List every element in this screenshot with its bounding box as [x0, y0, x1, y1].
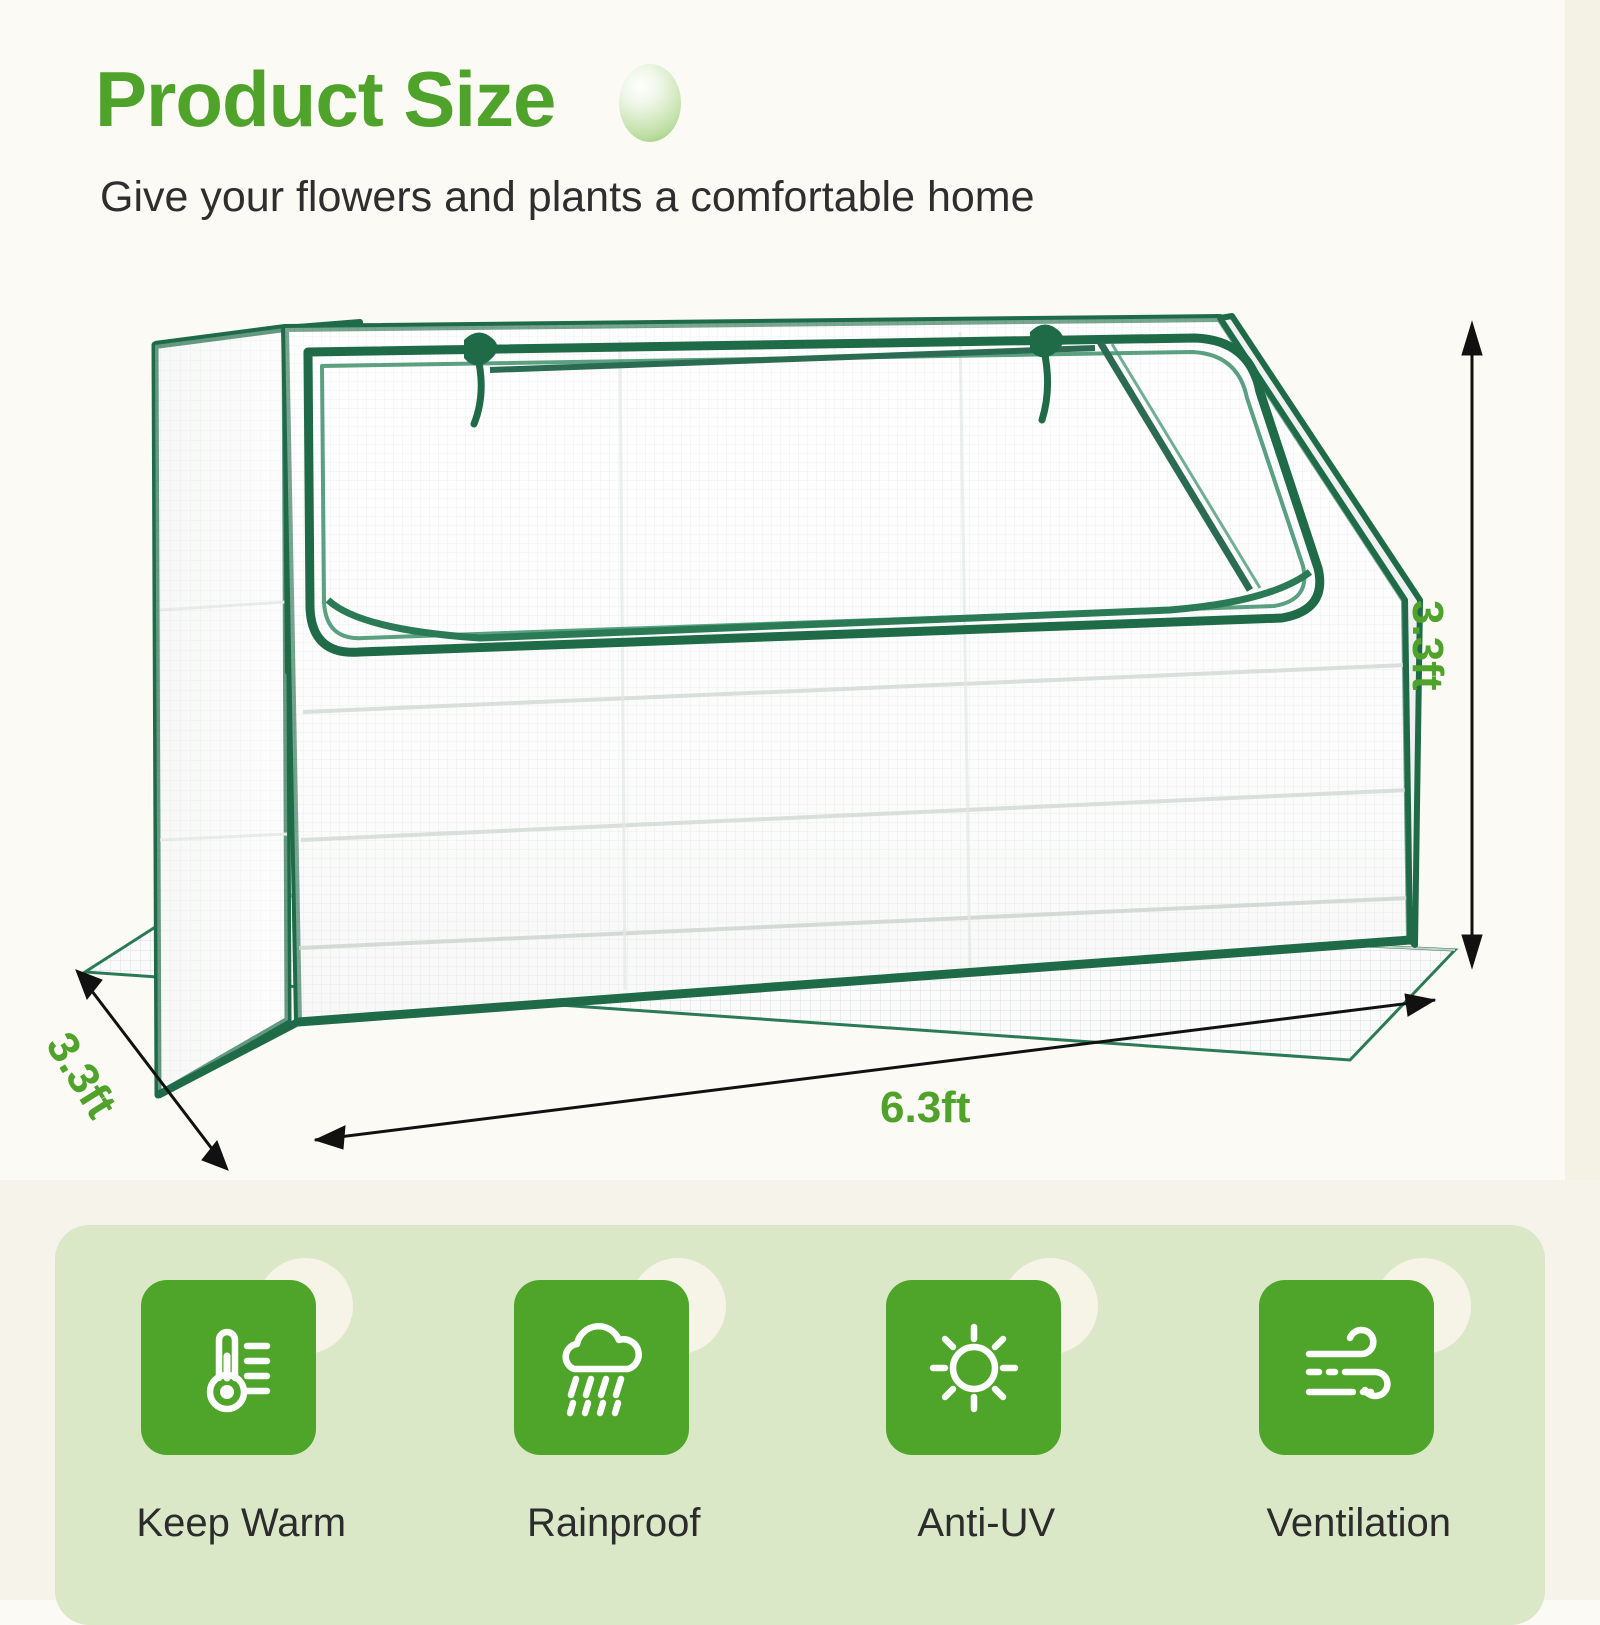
feature-tile-wrap	[1259, 1280, 1459, 1455]
header: Product Size Give your flowers and plant…	[95, 60, 1395, 221]
greenhouse-front-face	[285, 318, 1410, 1022]
wind-icon	[1291, 1316, 1401, 1420]
height-arrow	[1462, 322, 1482, 968]
greenhouse-drawing	[60, 300, 1540, 1200]
rain-cloud-icon	[546, 1313, 656, 1423]
dimension-label-width: 6.3ft	[880, 1083, 970, 1133]
feature-item-ventilation[interactable]: Ventilation	[1173, 1225, 1546, 1546]
page-title-wrap: Product Size	[95, 60, 555, 138]
thermometer-icon	[177, 1316, 281, 1420]
sun-icon	[921, 1315, 1027, 1421]
feature-label: Ventilation	[1266, 1501, 1451, 1546]
feature-label: Rainproof	[527, 1501, 700, 1546]
feature-tile-wrap	[886, 1280, 1086, 1455]
page-title: Product Size	[95, 60, 555, 138]
feature-label: Keep Warm	[136, 1501, 346, 1546]
feature-tile	[1259, 1280, 1434, 1455]
feature-item-rainproof[interactable]: Rainproof	[428, 1225, 801, 1546]
feature-tile-wrap	[141, 1280, 341, 1455]
feature-tile	[514, 1280, 689, 1455]
leaf-dot-decoration	[619, 64, 681, 142]
feature-tile-wrap	[514, 1280, 714, 1455]
feature-item-keep-warm[interactable]: Keep Warm	[55, 1225, 428, 1546]
feature-label: Anti-UV	[917, 1501, 1055, 1546]
feature-panel: Keep Warm Rainproof	[55, 1225, 1545, 1625]
feature-tile	[141, 1280, 316, 1455]
dimension-label-height: 3.3ft	[1402, 600, 1452, 690]
feature-tile	[886, 1280, 1061, 1455]
greenhouse-left-end-panel	[155, 328, 288, 1095]
page-subtitle: Give your flowers and plants a comfortab…	[100, 174, 1395, 221]
infographic-page: Product Size Give your flowers and plant…	[0, 0, 1600, 1600]
product-illustration	[60, 300, 1540, 1200]
feature-item-anti-uv[interactable]: Anti-UV	[800, 1225, 1173, 1546]
